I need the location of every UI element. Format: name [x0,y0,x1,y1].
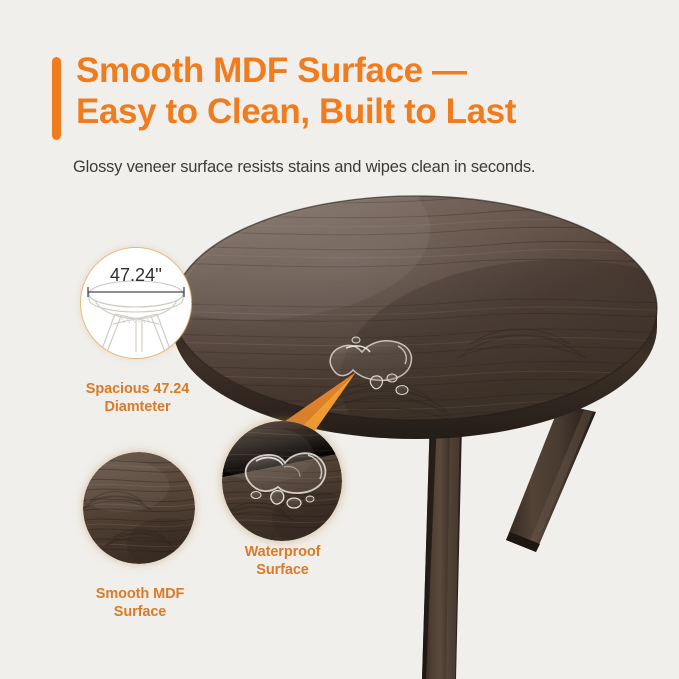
smooth-mdf-circle [83,452,195,564]
smooth-mdf-callout-label: Smooth MDF Surface [55,585,225,621]
waterproof-callout-label: Waterproof Surface [200,543,365,579]
accent-bar [52,57,61,140]
diameter-diagram-circle: 47.24'' [80,247,192,359]
waterproof-circle [222,421,342,541]
page-subtitle: Glossy veneer surface resists stains and… [73,156,673,178]
header-block: Smooth MDF Surface — Easy to Clean, Buil… [0,0,679,195]
page-title: Smooth MDF Surface — Easy to Clean, Buil… [76,50,666,132]
svg-text:47.24'': 47.24'' [110,265,162,285]
diameter-callout-label: Spacious 47.24 Diamteter [55,380,220,416]
product-feature-image: Smooth MDF Surface — Easy to Clean, Buil… [0,0,679,679]
